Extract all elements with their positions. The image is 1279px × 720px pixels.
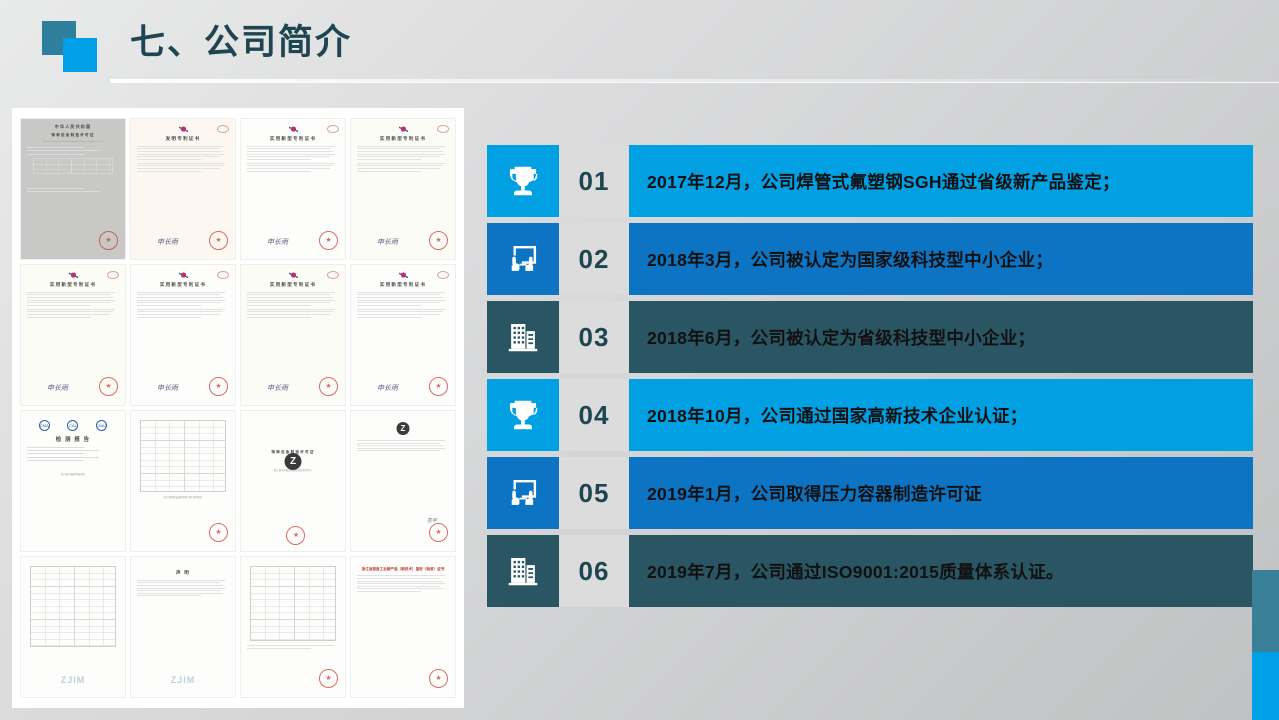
certificate-title: 实用新型专利证书	[247, 282, 339, 289]
signature-mark: 申长雨	[377, 237, 398, 248]
certificate-title: 发明专利证书	[137, 136, 229, 143]
timeline-text: 2017年12月，公司焊管式氟塑钢SGH通过省级新产品鉴定；	[629, 145, 1253, 217]
timeline-row[interactable]: 02 2018年3月，公司被认定为国家级科技型中小企业；	[487, 223, 1253, 295]
certificate-thumbnail[interactable]: 实用新型专利证书 申长雨	[350, 118, 456, 260]
timeline-number: 05	[559, 457, 629, 529]
signature-mark: 申长雨	[47, 383, 68, 394]
timeline-number: 01	[559, 145, 629, 217]
certificate-thumbnail[interactable]: 浙江省特种设备检验研究院 检验报告	[130, 410, 236, 552]
slide-header: 七、公司简介	[0, 0, 1279, 95]
timeline-number: 06	[559, 535, 629, 607]
oval-stamp-icon	[437, 125, 449, 133]
certificate-thumbnail[interactable]: CMA CAL CNAS 检 测 报 告 浙江省中鑫检测研究院	[20, 410, 126, 552]
oval-stamp-icon	[327, 271, 339, 279]
oval-stamp-icon	[327, 125, 339, 133]
patent-logo-icon	[399, 271, 408, 280]
certificate-title: 中华人民共和国	[27, 124, 119, 130]
certificate-title: 实用新型专利证书	[247, 136, 339, 143]
certificate-thumbnail[interactable]: ZJIM	[20, 556, 126, 698]
certificate-english: Manufacture License of Special Equipment…	[27, 141, 119, 144]
red-seal-icon	[99, 377, 118, 396]
oval-stamp-icon	[217, 125, 229, 133]
red-seal-icon	[429, 231, 448, 250]
certificate-table	[33, 158, 114, 174]
certificate-title: 实用新型专利证书	[137, 282, 229, 289]
oval-stamp-icon	[437, 271, 449, 279]
page-title: 七、公司简介	[130, 14, 352, 65]
certificate-thumbnail[interactable]: 实用新型专利证书 申长雨	[130, 264, 236, 406]
cnas-badge-icon: CNAS	[96, 420, 107, 431]
timeline-text: 2018年3月，公司被认定为国家级科技型中小企业；	[629, 223, 1253, 295]
certificate-subtitle: 浙江省特种设备检验研究院 检验报告	[137, 496, 229, 500]
patent-logo-icon	[289, 271, 298, 280]
certificate-thumbnail[interactable]: 实用新型专利证书 申长雨	[240, 118, 346, 260]
cma-badge-icon: CMA	[39, 420, 50, 431]
signature-mark: 申长雨	[267, 237, 288, 248]
patent-logo-icon	[69, 271, 78, 280]
timeline-text: 2018年10月，公司通过国家高新技术企业认证；	[629, 379, 1253, 451]
signature-mark: 申长雨	[267, 383, 288, 394]
certificate-thumbnail[interactable]: 浙江省装备工业新产品（新技术）鉴定（验收）证书	[350, 556, 456, 698]
certificate-thumbnail[interactable]: 实用新型专利证书 申长雨	[240, 264, 346, 406]
header-divider	[110, 79, 1279, 82]
z-logo-icon: Z	[285, 453, 302, 470]
trophy-icon	[487, 379, 559, 451]
red-seal-icon	[319, 231, 338, 250]
certificate-title: 检 测 报 告	[27, 436, 119, 444]
certificate-thumbnail[interactable]	[240, 556, 346, 698]
signature-mark: 申长雨	[157, 383, 178, 394]
certificate-thumbnail[interactable]: 中华人民共和国 特种设备制造许可证 Manufacture License of…	[20, 118, 126, 260]
red-seal-icon	[209, 377, 228, 396]
timeline-number: 02	[559, 223, 629, 295]
slide-canvas: 七、公司简介 中华人民共和国 特种设备制造许可证 Manufacture Lic…	[0, 0, 1279, 720]
certificate-thumbnail[interactable]: 声 明 ZJIM	[130, 556, 236, 698]
red-seal-icon	[286, 526, 305, 545]
timeline-row[interactable]: 04 2018年10月，公司通过国家高新技术企业认证；	[487, 379, 1253, 451]
watermark-text: ZJIM	[61, 674, 86, 688]
cal-badge-icon: CAL	[67, 420, 78, 431]
building-icon	[487, 301, 559, 373]
building-icon	[487, 535, 559, 607]
red-seal-icon	[319, 669, 338, 688]
achievement-timeline: 01 2017年12月，公司焊管式氟塑钢SGH通过省级新产品鉴定； 02 201…	[487, 145, 1253, 613]
timeline-number: 04	[559, 379, 629, 451]
edge-decoration-teal	[1252, 570, 1279, 652]
edge-decoration-cyan	[1252, 652, 1279, 720]
certificate-subtitle: 特种设备制造许可证	[27, 133, 119, 138]
certificate-thumbnail[interactable]: Z 特种设备制造许可证 浙江省市场监督管理局检验检测中心	[240, 410, 346, 552]
signature-mark: 申长雨	[157, 237, 178, 248]
report-table	[140, 420, 226, 492]
certificate-thumbnail[interactable]: Z 签字	[350, 410, 456, 552]
data-table	[30, 566, 116, 647]
certificate-thumbnail[interactable]: 实用新型专利证书 申长雨	[350, 264, 456, 406]
timeline-number: 03	[559, 301, 629, 373]
red-seal-icon	[429, 669, 448, 688]
red-seal-icon	[429, 523, 448, 542]
red-seal-icon	[319, 377, 338, 396]
timeline-row[interactable]: 01 2017年12月，公司焊管式氟塑钢SGH通过省级新产品鉴定；	[487, 145, 1253, 217]
certificate-title: 实用新型专利证书	[357, 136, 449, 143]
red-seal-icon	[209, 231, 228, 250]
certificate-thumbnail[interactable]: 发明专利证书 申长雨	[130, 118, 236, 260]
patent-logo-icon	[179, 271, 188, 280]
oval-stamp-icon	[217, 271, 229, 279]
timeline-text: 2019年7月，公司通过ISO9001:2015质量体系认证。	[629, 535, 1253, 607]
certificate-subtitle: 浙江省中鑫检测研究院	[27, 473, 119, 477]
data-table	[250, 566, 336, 641]
timeline-row[interactable]: 03 2018年6月，公司被认定为省级科技型中小企业；	[487, 301, 1253, 373]
certificate-title: 声 明	[137, 570, 229, 577]
z-logo-icon: Z	[397, 422, 410, 435]
certificate-gallery: 中华人民共和国 特种设备制造许可证 Manufacture License of…	[12, 108, 464, 708]
certificate-title: 实用新型专利证书	[27, 282, 119, 289]
timeline-row[interactable]: 05 2019年1月，公司取得压力容器制造许可证	[487, 457, 1253, 529]
header-square-light-icon	[63, 38, 97, 72]
patent-logo-icon	[179, 125, 188, 134]
signature-mark: 申长雨	[377, 383, 398, 394]
red-seal-icon	[429, 377, 448, 396]
patent-logo-icon	[399, 125, 408, 134]
certificate-title: 浙江省装备工业新产品（新技术）鉴定（验收）证书	[357, 566, 449, 572]
hands-screen-icon	[487, 223, 559, 295]
red-seal-icon	[209, 523, 228, 542]
accreditation-badges: CMA CAL CNAS	[30, 420, 116, 431]
timeline-text: 2019年1月，公司取得压力容器制造许可证	[629, 457, 1253, 529]
hands-screen-icon	[487, 457, 559, 529]
certificate-thumbnail[interactable]: 实用新型专利证书 申长雨	[20, 264, 126, 406]
red-seal-icon	[99, 231, 118, 250]
certificate-title: 实用新型专利证书	[357, 282, 449, 289]
watermark-text: ZJIM	[171, 674, 196, 688]
timeline-text: 2018年6月，公司被认定为省级科技型中小企业；	[629, 301, 1253, 373]
patent-logo-icon	[289, 125, 298, 134]
trophy-icon	[487, 145, 559, 217]
oval-stamp-icon	[107, 271, 119, 279]
timeline-row[interactable]: 06 2019年7月，公司通过ISO9001:2015质量体系认证。	[487, 535, 1253, 607]
